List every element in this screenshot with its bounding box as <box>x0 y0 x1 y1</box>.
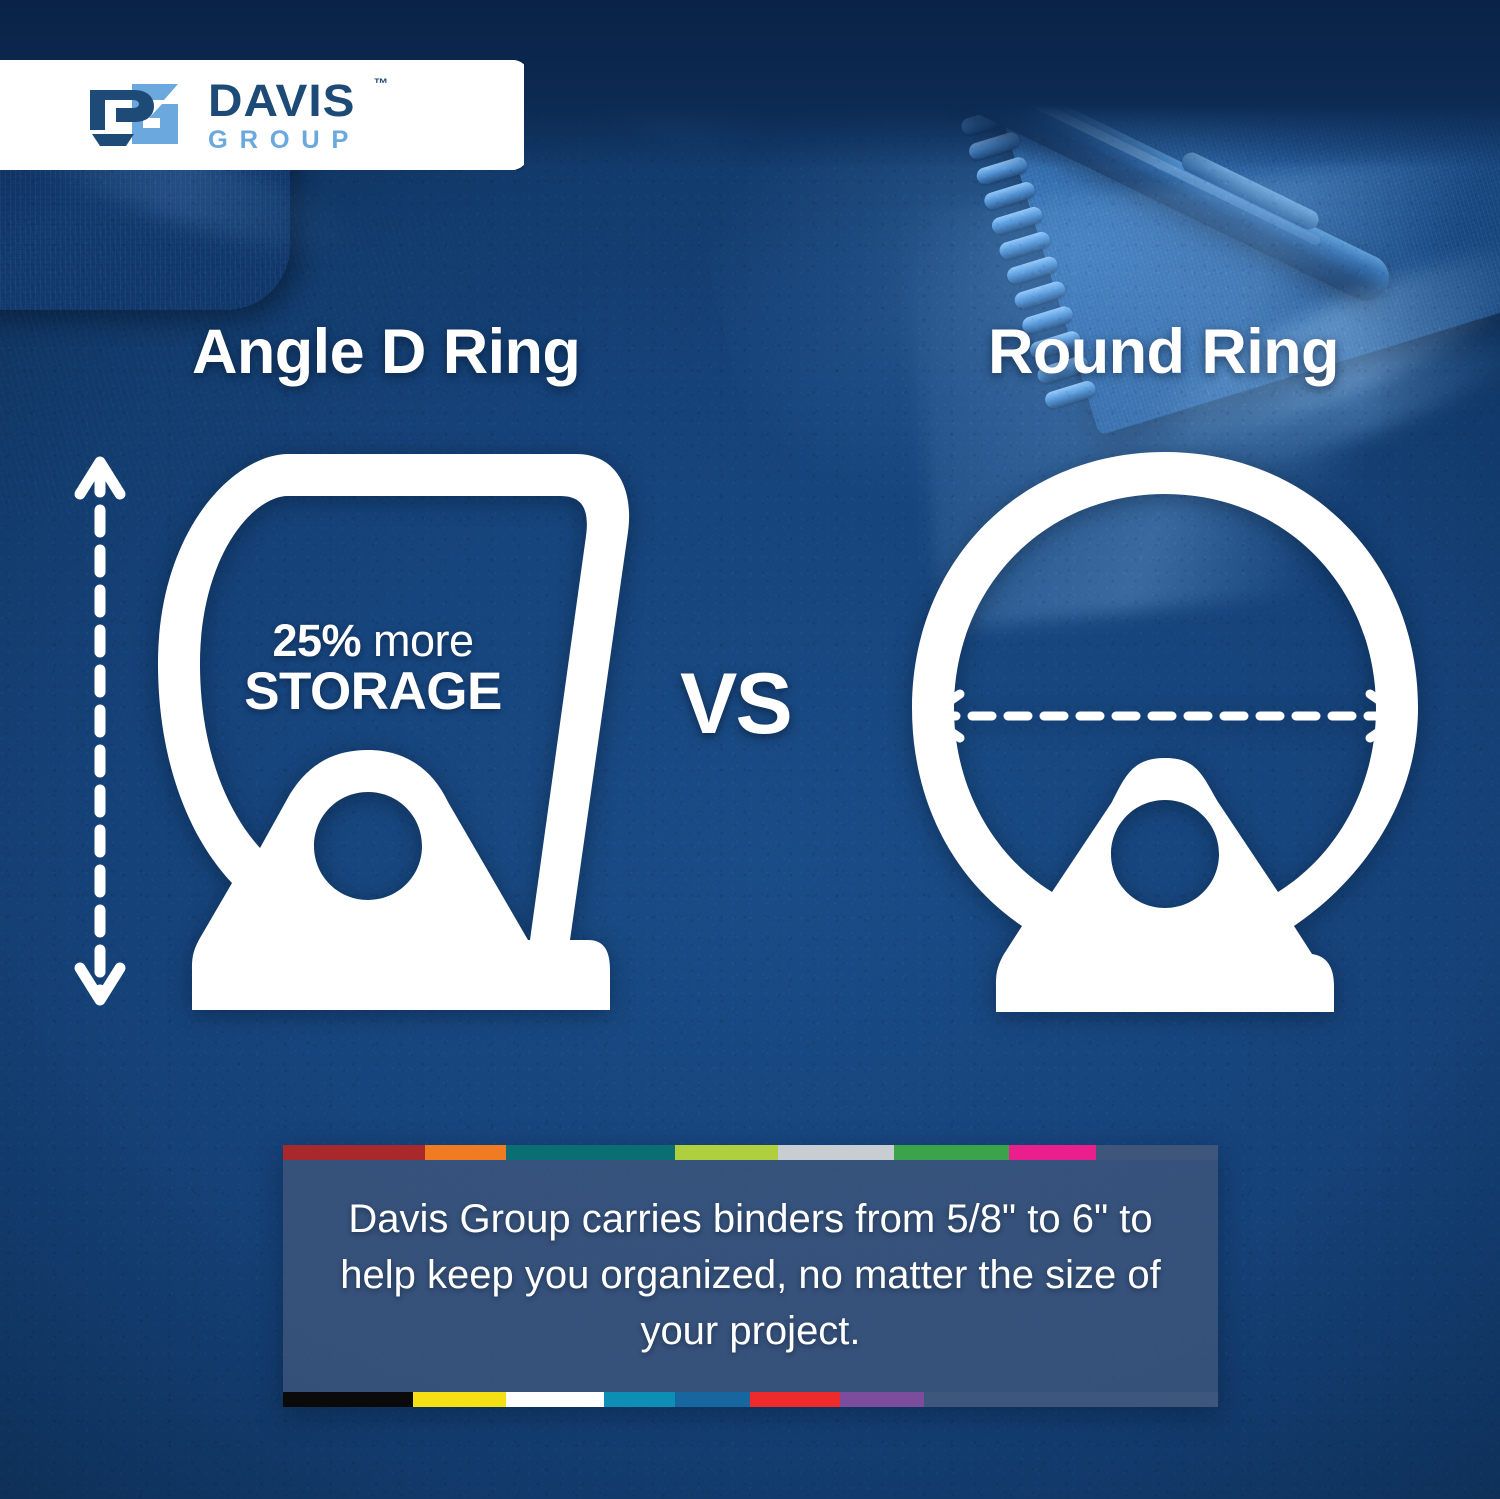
info-callout-box: Davis Group carries binders from 5/8" to… <box>283 1145 1218 1407</box>
color-stripe-segment <box>840 1392 924 1407</box>
info-text: Davis Group carries binders from 5/8" to… <box>311 1191 1190 1359</box>
storage-percent: 25% <box>272 615 361 666</box>
trademark-symbol: ™ <box>374 76 389 90</box>
storage-badge-line1: 25% more <box>238 618 508 663</box>
color-stripe-segment <box>1096 1145 1218 1160</box>
horizontal-double-arrow-icon <box>928 694 1402 738</box>
color-stripe-segment <box>675 1145 778 1160</box>
color-stripe-segment <box>675 1392 751 1407</box>
color-stripe-bottom <box>283 1392 1218 1407</box>
color-stripe-segment <box>1009 1145 1097 1160</box>
right-column-heading: Round Ring <box>988 316 1339 388</box>
brand-name: DAVIS™ <box>208 78 366 123</box>
color-stripe-segment <box>894 1145 1008 1160</box>
brand-wordmark: DAVIS™ GROUP <box>208 78 357 153</box>
logo-lockup: DAVIS™ GROUP <box>0 78 357 153</box>
round-ring-icon <box>900 440 1430 1020</box>
left-column-heading: Angle D Ring <box>192 316 580 388</box>
versus-label: VS <box>680 655 791 754</box>
color-stripe-segment <box>283 1392 413 1407</box>
color-stripe-segment <box>506 1392 604 1407</box>
color-stripe-segment <box>413 1392 506 1407</box>
color-stripe-top <box>283 1145 1218 1160</box>
color-stripe-segment <box>283 1145 425 1160</box>
dg-monogram-icon <box>86 82 186 148</box>
storage-badge-line2: STORAGE <box>238 663 508 720</box>
storage-more-label: more <box>373 615 474 666</box>
vertical-double-arrow-icon <box>72 448 128 1014</box>
brand-subname: GROUP <box>208 128 360 153</box>
infographic-canvas: DAVIS™ GROUP Angle D Ring Round Ring <box>0 0 1500 1499</box>
storage-badge: 25% more STORAGE <box>238 618 508 720</box>
angle-d-ring-icon <box>140 440 670 1020</box>
color-stripe-segment <box>924 1392 1218 1407</box>
color-stripe-segment <box>604 1392 675 1407</box>
color-stripe-segment <box>778 1145 895 1160</box>
brand-banner: DAVIS™ GROUP <box>0 60 528 170</box>
color-stripe-segment <box>750 1392 840 1407</box>
color-stripe-segment <box>425 1145 506 1160</box>
color-stripe-segment <box>506 1145 674 1160</box>
